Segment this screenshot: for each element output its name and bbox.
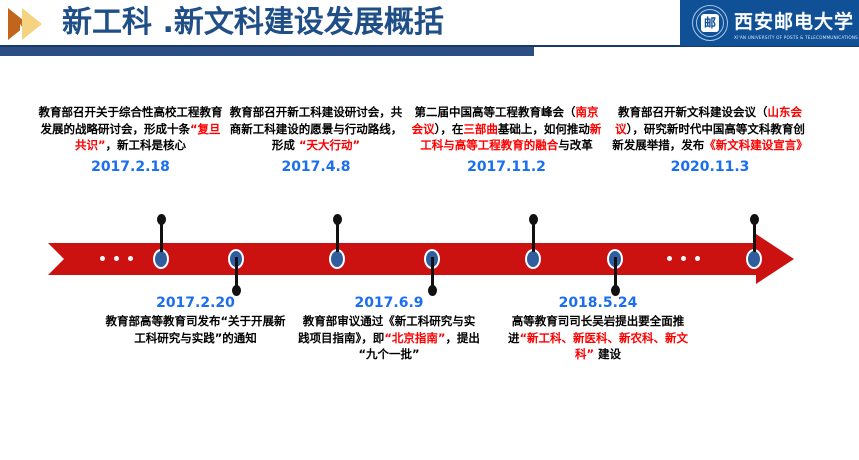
event-text: 建设 xyxy=(594,347,621,361)
university-name-cn: 西安邮电大学 xyxy=(734,7,858,34)
event-text: ，新工科是核心 xyxy=(106,138,187,152)
event-text: 与改革 xyxy=(558,138,593,152)
header-accent-bar xyxy=(0,47,534,56)
timeline-event: 2017.6.9教育部审议通过《新工科研究与实践项目指南》，即“北京指南”，提出… xyxy=(298,295,480,363)
timeline-event-date: 2017.6.9 xyxy=(298,295,480,311)
event-text: 教育部高等教育司发布“关于开展新工科研究与实践”的通知 xyxy=(105,314,285,345)
timeline-event-description: 教育部召开新文科建设会议（山东会议），研究新时代中国高等文科教育创新发展举措，发… xyxy=(612,104,808,154)
timeline-marker-knob-icon xyxy=(333,214,342,225)
event-text-highlight: 《新文科建设宣言》 xyxy=(704,138,808,152)
timeline-event-date: 2018.5.24 xyxy=(503,295,693,311)
timeline-event-date: 2017.2.18 xyxy=(38,159,223,175)
event-text-highlight: “北京指南” xyxy=(384,331,445,345)
event-text: ），在 xyxy=(435,122,464,136)
page-title: 新工科 .新文科建设发展概括 xyxy=(62,3,444,43)
timeline-axis xyxy=(38,243,794,275)
chevron-logo-icon xyxy=(8,8,56,40)
timeline-event: 教育部召开新工科建设研讨会，共商新工科建设的愿景与行动路线，形成 “天大行动”2… xyxy=(227,104,405,175)
timeline-event: 2017.2.20教育部高等教育司发布“关于开展新工科研究与实践”的通知 xyxy=(104,295,287,346)
timeline-event-description: 第二届中国高等工程教育峰会（南京会议），在三部曲基础上，如何推动新工科与高等工程… xyxy=(410,104,603,154)
timeline-event-date: 2017.4.8 xyxy=(227,159,405,175)
university-seal-icon: 邮 xyxy=(692,5,728,41)
timeline-event-date: 2017.11.2 xyxy=(410,159,603,175)
page-header: 新工科 .新文科建设发展概括 邮 西安邮电大学 XI'AN UNIVERSITY… xyxy=(0,0,859,58)
timeline-marker-knob-icon xyxy=(529,214,538,225)
seal-glyph: 邮 xyxy=(701,14,719,32)
timeline-marker[interactable] xyxy=(153,249,169,269)
event-text: 教育部召开新文科建设会议（ xyxy=(618,105,768,119)
timeline-event-description: 教育部召开新工科建设研讨会，共商新工科建设的愿景与行动路线，形成 “天大行动” xyxy=(227,104,405,154)
timeline-ellipsis-dots xyxy=(100,256,133,261)
timeline-tail-notch-icon xyxy=(48,243,64,275)
timeline-event: 第二届中国高等工程教育峰会（南京会议），在三部曲基础上，如何推动新工科与高等工程… xyxy=(410,104,603,175)
timeline-event-date: 2017.2.20 xyxy=(104,295,287,311)
timeline-event: 教育部召开新文科建设会议（山东会议），研究新时代中国高等文科教育创新发展举措，发… xyxy=(612,104,808,175)
timeline-event-description: 教育部高等教育司发布“关于开展新工科研究与实践”的通知 xyxy=(104,313,287,346)
university-name-en: XI'AN UNIVERSITY OF POSTS & TELECOMMUNIC… xyxy=(734,35,858,40)
timeline-event: 教育部召开关于综合性高校工程教育发展的战略研讨会，形成十条“复旦共识”，新工科是… xyxy=(38,104,223,175)
timeline-marker[interactable] xyxy=(329,249,345,269)
timeline-event-description: 教育部召开关于综合性高校工程教育发展的战略研讨会，形成十条“复旦共识”，新工科是… xyxy=(38,104,223,154)
timeline-event-description: 高等教育司司长吴岩提出要全面推进“新工科、新医科、新农科、新文科” 建设 xyxy=(503,313,693,363)
timeline-ellipsis-dots xyxy=(667,256,700,261)
event-text: 基础上，如何推动 xyxy=(498,122,590,136)
timeline-event-date: 2020.11.3 xyxy=(612,159,808,175)
timeline-marker-knob-icon xyxy=(750,214,759,225)
event-text: 第二届中国高等工程教育峰会（ xyxy=(415,105,576,119)
timeline-event: 2018.5.24高等教育司司长吴岩提出要全面推进“新工科、新医科、新农科、新文… xyxy=(503,295,693,363)
timeline-marker[interactable] xyxy=(746,249,762,269)
event-text-highlight: “天大行动” xyxy=(299,138,360,152)
event-text-highlight: 三部曲 xyxy=(463,122,498,136)
university-logo: 邮 西安邮电大学 XI'AN UNIVERSITY OF POSTS & TEL… xyxy=(680,0,859,46)
timeline-marker[interactable] xyxy=(525,249,541,269)
timeline-marker-knob-icon xyxy=(157,214,166,225)
timeline-event-description: 教育部审议通过《新工科研究与实践项目指南》，即“北京指南”，提出 “九个一批” xyxy=(298,313,480,363)
